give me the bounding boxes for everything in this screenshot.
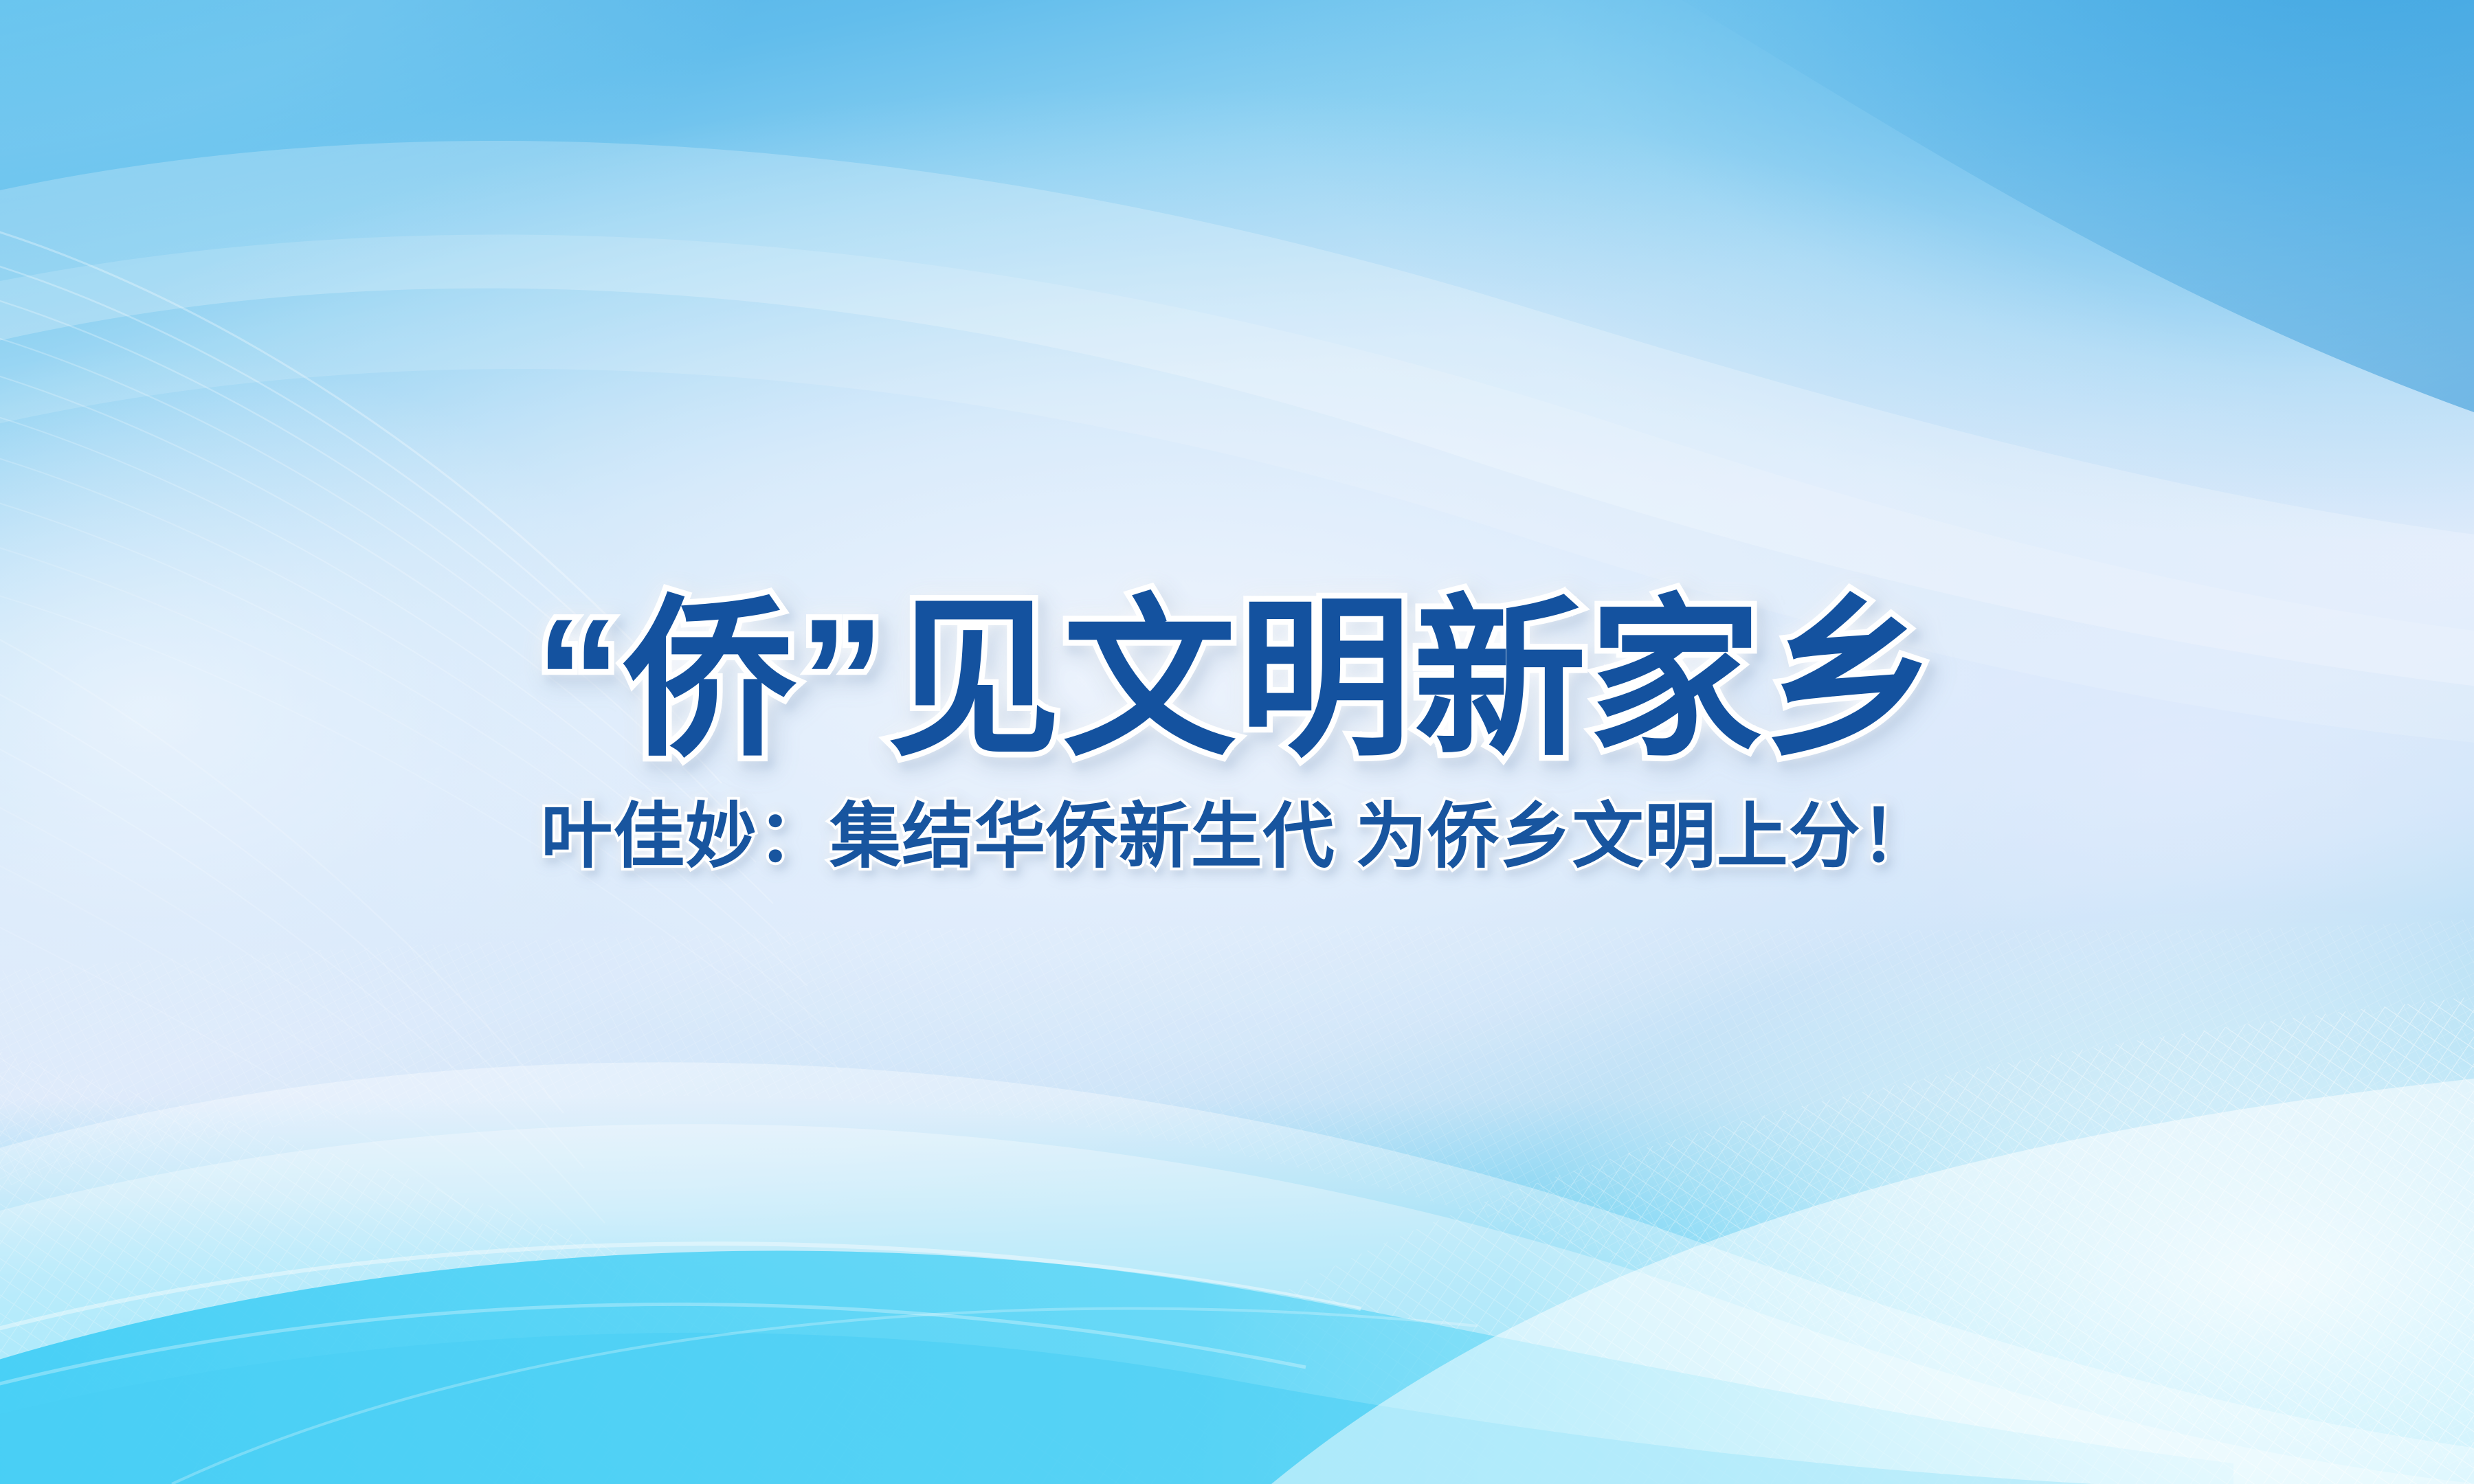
banner-canvas: “侨”见文明新家乡 叶佳妙：集结华侨新生代 为侨乡文明上分！	[0, 0, 2474, 1484]
page-title: “侨”见文明新家乡	[535, 594, 1939, 767]
banner-text-block: “侨”见文明新家乡 叶佳妙：集结华侨新生代 为侨乡文明上分！	[0, 0, 2474, 1484]
page-subtitle: 叶佳妙：集结华侨新生代 为侨乡文明上分！	[541, 801, 1933, 873]
